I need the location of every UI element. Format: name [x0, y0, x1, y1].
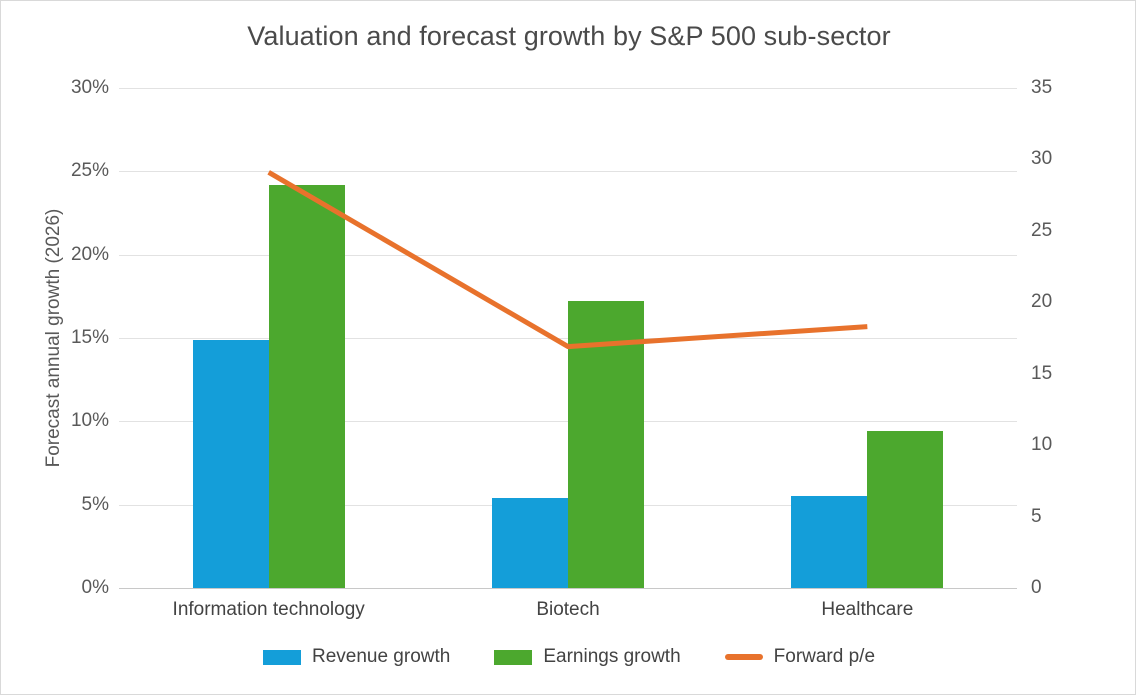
y-tick-label-right: 20 — [1031, 291, 1071, 313]
legend-item[interactable]: Revenue growth — [263, 646, 450, 668]
x-tick-label: Information technology — [173, 599, 365, 621]
forward-pe-line — [119, 88, 1017, 588]
legend-swatch-line — [725, 654, 763, 660]
chart-legend: Revenue growthEarnings growthForward p/e — [1, 646, 1136, 668]
legend-item[interactable]: Forward p/e — [725, 646, 875, 668]
legend-item[interactable]: Earnings growth — [494, 646, 680, 668]
y-tick-label-right: 10 — [1031, 434, 1071, 456]
legend-swatch-revenue — [263, 650, 301, 665]
chart-container: Valuation and forecast growth by S&P 500… — [0, 0, 1136, 695]
plot-area — [119, 88, 1017, 588]
y-tick-label-left: 5% — [39, 494, 109, 516]
legend-label: Earnings growth — [543, 646, 680, 668]
legend-label: Revenue growth — [312, 646, 450, 668]
x-tick-label: Healthcare — [821, 599, 913, 621]
y-tick-label-right: 0 — [1031, 577, 1071, 599]
y-tick-label-left: 30% — [39, 77, 109, 99]
y-tick-label-right: 35 — [1031, 77, 1071, 99]
y-tick-label-left: 25% — [39, 160, 109, 182]
chart-title: Valuation and forecast growth by S&P 500… — [1, 21, 1136, 52]
y-tick-label-right: 25 — [1031, 220, 1071, 242]
y-tick-label-right: 30 — [1031, 148, 1071, 170]
y-tick-label-right: 15 — [1031, 363, 1071, 385]
y-tick-label-left: 10% — [39, 410, 109, 432]
y-tick-label-left: 15% — [39, 327, 109, 349]
x-axis-line — [119, 588, 1017, 589]
legend-swatch-earnings — [494, 650, 532, 665]
y-tick-label-right: 5 — [1031, 506, 1071, 528]
y-tick-label-left: 20% — [39, 244, 109, 266]
y-tick-label-left: 0% — [39, 577, 109, 599]
x-tick-label: Biotech — [536, 599, 599, 621]
legend-label: Forward p/e — [774, 646, 875, 668]
